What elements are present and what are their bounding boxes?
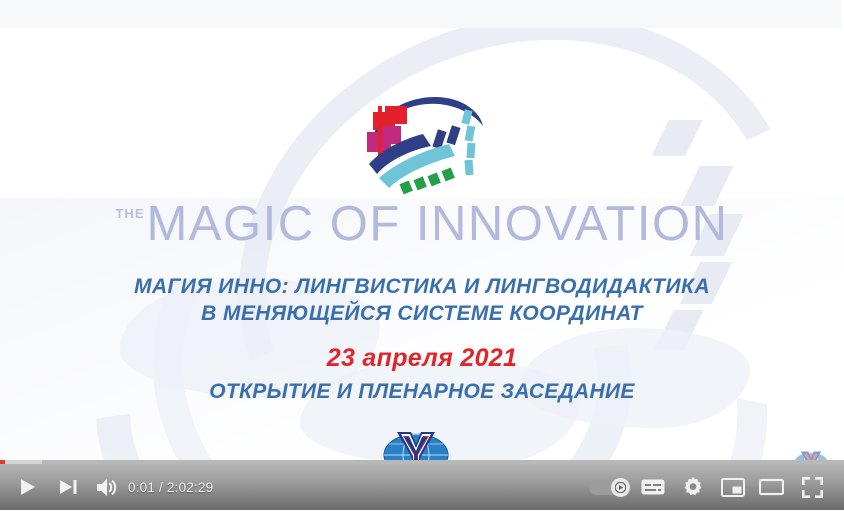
next-track-icon bbox=[59, 478, 78, 496]
gear-icon bbox=[682, 476, 704, 498]
subtitles-button[interactable] bbox=[634, 464, 672, 510]
slide-subtitle-line-1: МАГИЯ ИННО: ЛИНГВИСТИКА И ЛИНГВОДИДАКТИК… bbox=[0, 273, 844, 300]
mgimo-university-logo: МГИМО УНИВЕРСИТЕТ bbox=[377, 424, 455, 460]
slide-date: 23 апреля 2021 bbox=[0, 344, 844, 373]
player-top-strip bbox=[0, 0, 844, 29]
control-button-row: 0:01 / 2:02:29 bbox=[0, 464, 844, 510]
slide-title-prefix: THE bbox=[115, 206, 144, 221]
player-bottom-edge bbox=[0, 510, 844, 514]
fullscreen-icon bbox=[802, 477, 823, 498]
slide-subtitle: МАГИЯ ИННО: ЛИНГВИСТИКА И ЛИНГВОДИДАКТИК… bbox=[0, 273, 844, 327]
play-button[interactable] bbox=[6, 464, 48, 510]
slide-subtitle-line-2: В МЕНЯЮЩЕЙСЯ СИСТЕМЕ КООРДИНАТ bbox=[0, 300, 844, 327]
volume-button[interactable] bbox=[88, 464, 126, 510]
player-control-bar[interactable]: 0:01 / 2:02:29 bbox=[0, 460, 844, 510]
autoplay-toggle[interactable] bbox=[589, 478, 629, 496]
miniplayer-button[interactable] bbox=[714, 464, 752, 510]
autoplay-knob bbox=[611, 478, 630, 497]
slide-title-main: MAGIC OF INNOVATION bbox=[146, 197, 728, 251]
time-display: 0:01 / 2:02:29 bbox=[128, 464, 213, 510]
video-player[interactable]: THEMAGIC OF INNOVATION МАГИЯ ИННО: ЛИНГВ… bbox=[0, 0, 844, 514]
fullscreen-button[interactable] bbox=[792, 464, 832, 510]
slide-session: ОТКРЫТИЕ И ПЛЕНАРНОЕ ЗАСЕДАНИЕ bbox=[0, 380, 844, 404]
video-stage[interactable]: THEMAGIC OF INNOVATION МАГИЯ ИННО: ЛИНГВ… bbox=[0, 28, 844, 460]
slide-title: THEMAGIC OF INNOVATION bbox=[0, 196, 844, 252]
theater-mode-icon bbox=[759, 478, 784, 496]
play-icon bbox=[17, 477, 37, 497]
mgimo-watermark-logo: МГИМО bbox=[790, 446, 832, 460]
settings-button[interactable] bbox=[674, 464, 712, 510]
theater-mode-button[interactable] bbox=[752, 464, 790, 510]
magic-of-innovation-globe-logo bbox=[345, 86, 495, 198]
autoplay-play-icon bbox=[615, 482, 626, 493]
miniplayer-icon bbox=[721, 478, 745, 497]
volume-icon bbox=[96, 478, 118, 497]
presentation-slide: THEMAGIC OF INNOVATION МАГИЯ ИННО: ЛИНГВ… bbox=[0, 28, 844, 460]
next-video-button[interactable] bbox=[48, 464, 88, 510]
closed-captions-icon bbox=[641, 478, 665, 496]
